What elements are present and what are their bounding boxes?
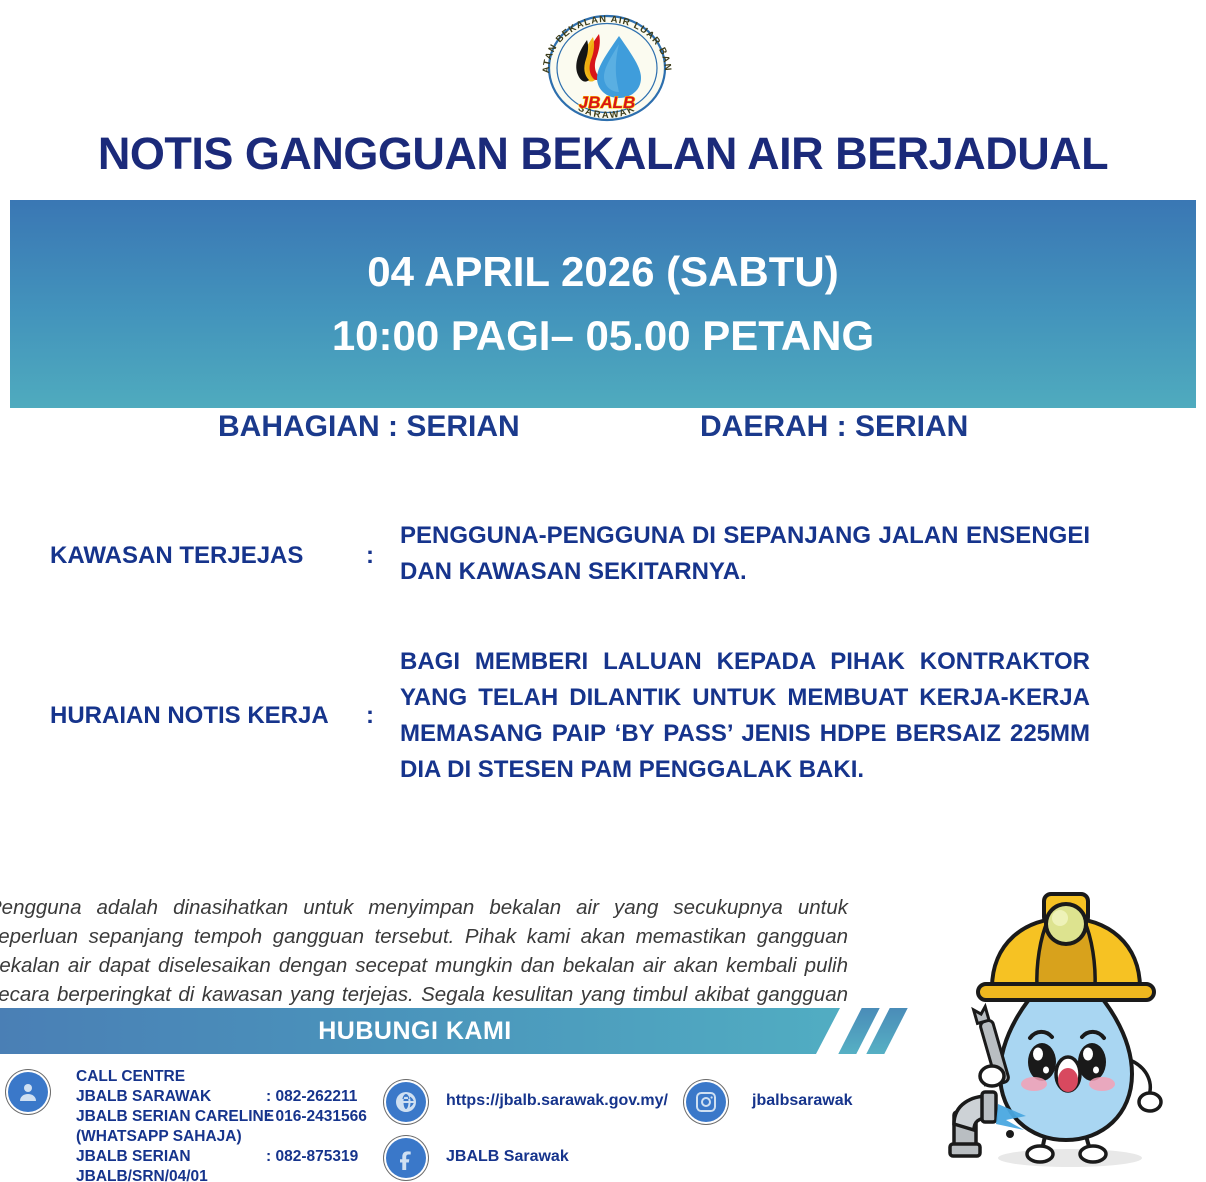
contact-row-name: JBALB SARAWAK bbox=[76, 1088, 211, 1106]
field-value: PENGGUNA-PENGGUNA DI SEPANJANG JALAN ENS… bbox=[400, 518, 1090, 590]
notice-time: 10:00 PAGI– 05.00 PETANG bbox=[332, 304, 874, 368]
notice-date: 04 APRIL 2026 (SABTU) bbox=[367, 240, 838, 304]
contact-details: JBALB SARAWAK CALL CENTRE JBALB SARAWAK … bbox=[0, 1060, 900, 1182]
field-colon: : bbox=[366, 702, 374, 730]
contact-row-name: (WHATSAPP SAHAJA) bbox=[76, 1128, 242, 1146]
contact-row-value: : 082-262211 bbox=[266, 1088, 357, 1106]
notice-poster: JABATAN BEKALAN AIR LUAR BANDAR SARAWAK … bbox=[0, 0, 1206, 1182]
date-time-banner: 04 APRIL 2026 (SABTU) 10:00 PAGI– 05.00 … bbox=[10, 200, 1196, 408]
globe-icon[interactable] bbox=[386, 1082, 426, 1122]
jbalb-logo: JABATAN BEKALAN AIR LUAR BANDAR SARAWAK … bbox=[527, 12, 687, 124]
field-label: KAWASAN TERJEJAS bbox=[50, 542, 303, 570]
water-droplet-mascot bbox=[930, 872, 1196, 1172]
instagram-handle[interactable]: jbalbsarawak bbox=[752, 1092, 853, 1110]
svg-text:JBALB: JBALB bbox=[579, 93, 636, 112]
daerah-label: DAERAH : SERIAN bbox=[700, 410, 968, 444]
field-huraian-notis-kerja: HURAIAN NOTIS KERJA : BAGI MEMBERI LALUA… bbox=[0, 640, 1206, 790]
field-label: HURAIAN NOTIS KERJA bbox=[50, 702, 329, 730]
contact-row-name: JBALB SERIAN bbox=[76, 1148, 191, 1166]
contact-row-value: : 016-2431566 bbox=[266, 1108, 367, 1126]
location-row: BAHAGIAN : SERIAN DAERAH : SERIAN bbox=[0, 410, 1206, 454]
field-colon: : bbox=[366, 542, 374, 570]
contact-banner-title: HUBUNGI KAMI bbox=[0, 1008, 830, 1054]
reference-code-text: JBALB/SRN/04/01 bbox=[76, 1168, 208, 1182]
person-icon bbox=[8, 1072, 48, 1112]
instagram-icon[interactable] bbox=[686, 1082, 726, 1122]
bahagian-label: BAHAGIAN : SERIAN bbox=[218, 410, 520, 444]
field-kawasan-terjejas: KAWASAN TERJEJAS : PENGGUNA-PENGGUNA DI … bbox=[0, 512, 1206, 602]
page-title: NOTIS GANGGUAN BEKALAN AIR BERJADUAL bbox=[0, 128, 1206, 180]
contact-row-value: : 082-875319 bbox=[266, 1148, 358, 1166]
field-value: BAGI MEMBERI LALUAN KEPADA PIHAK KONTRAK… bbox=[400, 644, 1090, 788]
call-centre-title: CALL CENTRE bbox=[76, 1068, 185, 1086]
facebook-name[interactable]: JBALB Sarawak bbox=[446, 1148, 569, 1166]
contact-banner: HUBUNGI KAMI bbox=[0, 1008, 900, 1054]
website-link[interactable]: https://jbalb.sarawak.gov.my/ bbox=[446, 1092, 668, 1110]
facebook-icon[interactable] bbox=[386, 1138, 426, 1178]
contact-row-name: JBALB SERIAN CARELINE bbox=[76, 1108, 274, 1126]
